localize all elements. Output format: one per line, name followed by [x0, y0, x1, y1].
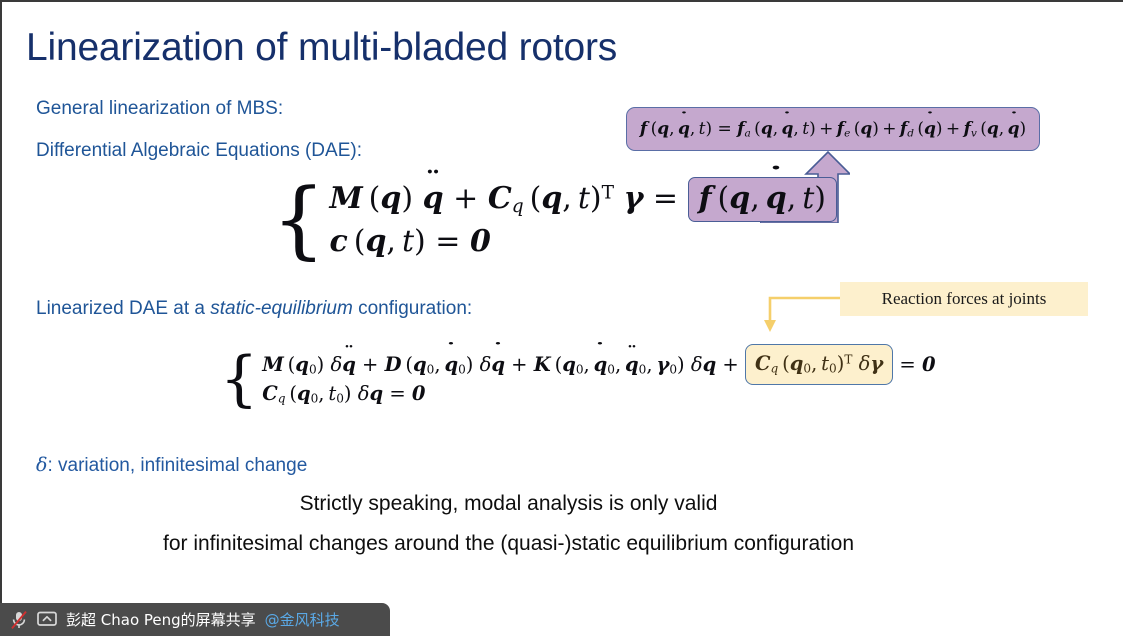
delta-definition-note: δ: variation, infinitesimal change [36, 454, 307, 477]
force-decomposition-equation-box: f (q, q, t) = fa (q, q, t) + fe (q) + fd… [626, 107, 1040, 151]
linearized-equation-rhs: = 0 [893, 353, 935, 376]
system-brace: { [272, 183, 325, 257]
linearized-suffix: configuration: [353, 298, 472, 319]
share-organization-label: @金风科技 [265, 609, 340, 630]
linearized-equation-row2: Cq (q0, t0) δq = 0 [262, 382, 425, 406]
linearized-italic-term: static-equilibrium [210, 298, 353, 319]
bottom-note-line-1: Strictly speaking, modal analysis is onl… [2, 492, 1015, 516]
heading-differential-algebraic-equations: Differential Algebraic Equations (DAE): [36, 140, 362, 162]
screen-share-bar[interactable]: 彭超 Chao Peng的屏幕共享 @金风科技 [0, 603, 390, 636]
dae-equation-row1: M (q) q + Cq (q, t)T γ = [329, 181, 687, 217]
microphone-muted-icon[interactable] [10, 610, 28, 630]
delta-note-text: : variation, infinitesimal change [47, 455, 307, 476]
page-title: Linearization of multi-bladed rotors [26, 26, 617, 70]
callout-connector-line [760, 290, 844, 336]
system-brace: { [220, 353, 258, 406]
callout-text: Reaction forces at joints [882, 289, 1047, 309]
linearized-prefix: Linearized DAE at a [36, 298, 210, 319]
heading-linearized-dae: Linearized DAE at a static-equilibrium c… [36, 298, 472, 320]
linearized-dae-system: { M (q0) δq + D (q0, q0) δq + K (q0, q0,… [220, 350, 936, 408]
slide-canvas: Linearization of multi-bladed rotors Gen… [0, 0, 1123, 636]
delta-symbol: δ [36, 454, 47, 476]
heading-general-linearization: General linearization of MBS: [36, 98, 283, 120]
boxed-force-term-math: f (q, q, t) [699, 181, 826, 216]
linearized-equation-row1: M (q0) δq + D (q0, q0) δq + K (q0, q0, q… [262, 353, 745, 377]
dae-system: { M (q) q + Cq (q, t)T γ = f (q, q, t) c… [272, 178, 837, 262]
boxed-force-term: f (q, q, t) [688, 177, 837, 222]
bottom-note-line-2: for infinitesimal changes around the (qu… [2, 532, 1015, 556]
screen-share-icon[interactable] [37, 611, 57, 628]
force-decomposition-equation: f (q, q, t) = fa (q, q, t) + fe (q) + fd… [640, 119, 1026, 139]
dae-equation-row2: c (q, t) = 0 [329, 224, 490, 259]
callout-reaction-forces: Reaction forces at joints [840, 282, 1088, 316]
share-presenter-label: 彭超 Chao Peng的屏幕共享 [66, 609, 256, 630]
boxed-reaction-force-math: Cq (q0, t0)T δγ [755, 352, 883, 375]
